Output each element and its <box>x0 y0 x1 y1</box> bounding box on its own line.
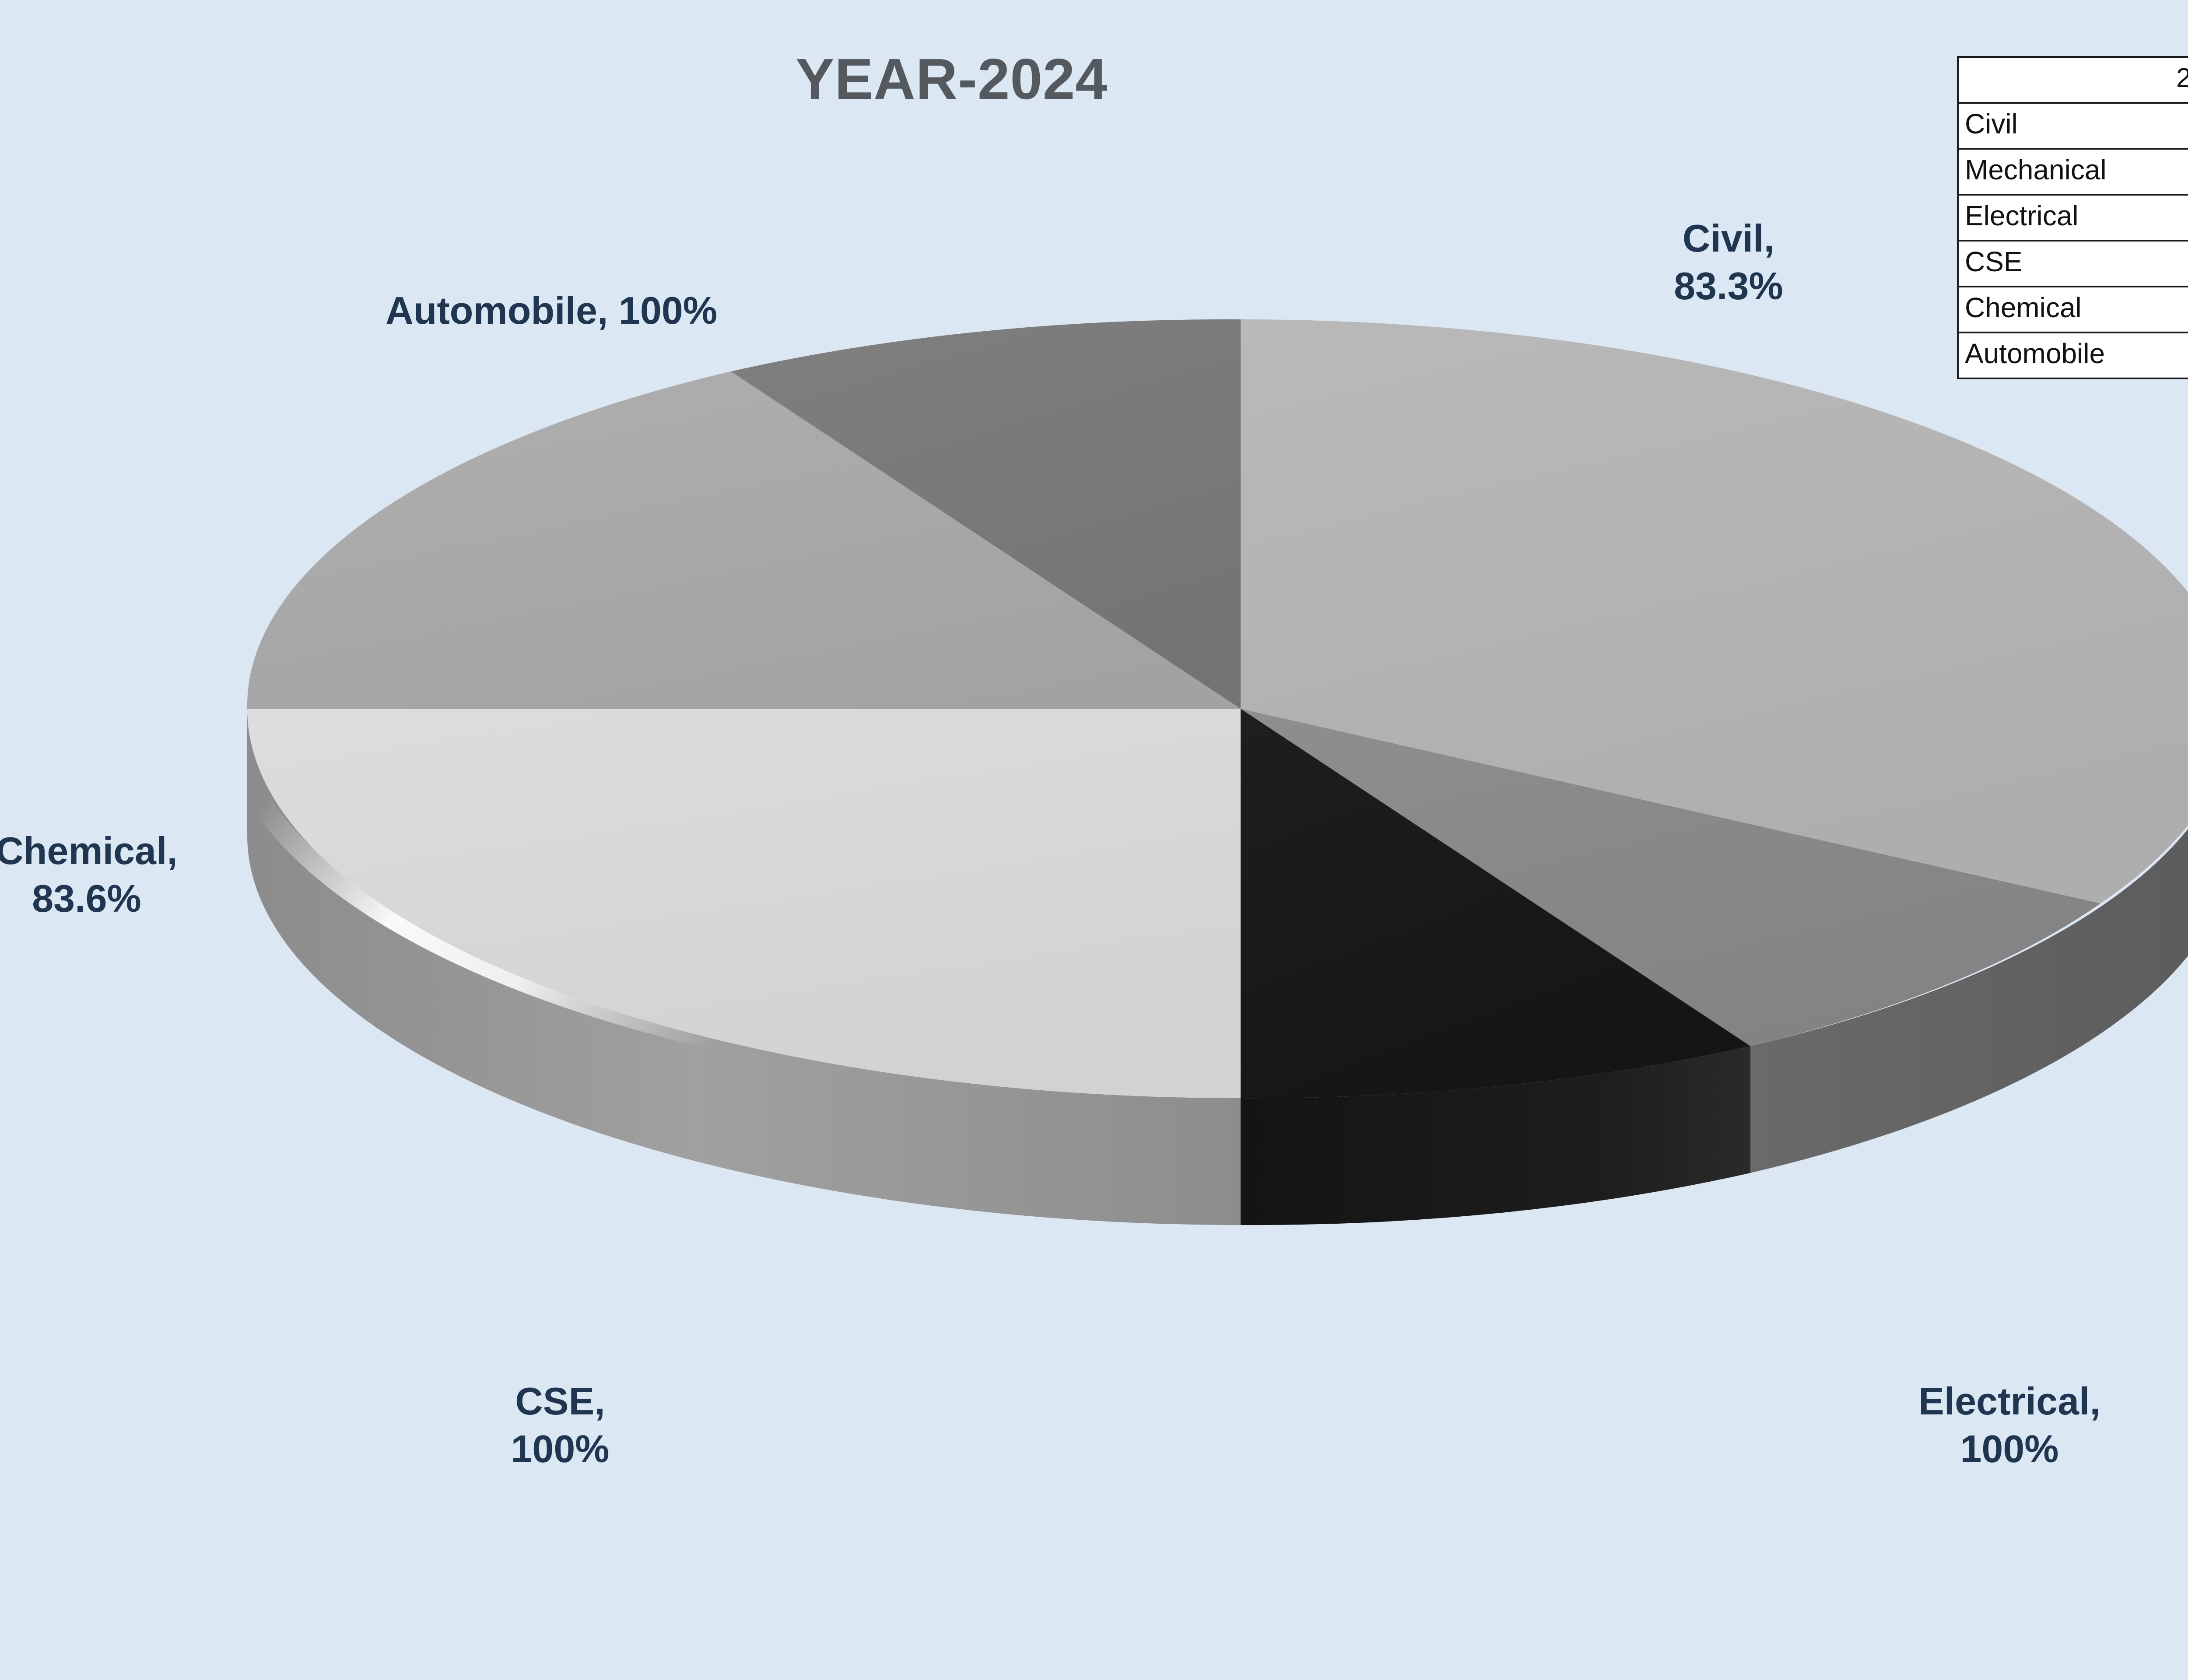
slice-label-civil-percent: 83.3% <box>1674 264 1783 308</box>
slice-label-automobile-name: Automobile, 100% <box>386 289 717 332</box>
table-header-row: 2024 <box>1958 57 2188 103</box>
data-table-container: 2024 Civil 83.3 Mechanical 100 Electrica… <box>1957 56 2188 379</box>
slice-label-cse: CSE, 100% <box>424 1377 696 1473</box>
slice-label-civil: Civil, 83.3% <box>1549 214 1908 310</box>
slice-label-electrical-name: Electrical, <box>1918 1379 2100 1423</box>
pie-slice-wall-electrical <box>1241 1046 1750 1225</box>
data-table-year-header: 2024 <box>1958 57 2188 103</box>
pie-slice-chemical-fill <box>247 371 1241 709</box>
slice-label-cse-percent: 100% <box>511 1427 609 1470</box>
table-cell-label: Chemical <box>1958 287 2188 332</box>
data-table-body: 2024 Civil 83.3 Mechanical 100 Electrica… <box>1958 57 2188 378</box>
table-cell-label: Mechanical <box>1958 149 2188 195</box>
pie-slice-cse <box>248 514 1241 1098</box>
slice-label-electrical: Electrical, 100% <box>1830 1377 2188 1473</box>
pie-slice-civil <box>1241 319 2188 903</box>
data-table: 2024 Civil 83.3 Mechanical 100 Electrica… <box>1957 56 2188 379</box>
slice-label-chemical: Chemical, 83.6% <box>0 827 227 922</box>
table-cell-label: Automobile <box>1958 332 2188 378</box>
table-cell-label: Electrical <box>1958 195 2188 241</box>
slice-label-cse-name: CSE, <box>515 1379 605 1423</box>
table-row: Electrical 100 <box>1958 195 2188 241</box>
slice-label-chemical-percent: 83.6% <box>32 877 141 920</box>
pie-slice-wall-mechanical <box>1750 709 2188 1173</box>
pie-slice-wall-cse <box>247 709 1241 1225</box>
pie-slice-automobile <box>731 319 1241 709</box>
table-row: Chemical 83.6 <box>1958 287 2188 332</box>
table-row: Mechanical 100 <box>1958 149 2188 195</box>
table-row: Civil 83.3 <box>1958 103 2188 149</box>
slice-label-chemical-name: Chemical, <box>0 829 178 872</box>
slice-label-civil-name: Civil, <box>1683 217 1774 260</box>
table-row: Automobile 100 <box>1958 332 2188 378</box>
pie-chart-figure: YEAR-2024 <box>0 0 2188 1680</box>
table-cell-label: CSE <box>1958 241 2188 287</box>
pie-slice-mechanical <box>1241 709 2100 1046</box>
pie-slice-electrical <box>1241 709 1750 1098</box>
slice-label-automobile: Automobile, 100% <box>333 287 770 334</box>
table-row: CSE 100 <box>1958 241 2188 287</box>
pie-slice-cse-fill <box>247 709 1241 1098</box>
slice-label-electrical-percent: 100% <box>1960 1427 2058 1470</box>
table-cell-label: Civil <box>1958 103 2188 149</box>
rim-highlight <box>263 805 831 1063</box>
page-title: YEAR-2024 <box>0 46 1904 112</box>
pie-slice-chemical <box>381 371 1241 709</box>
